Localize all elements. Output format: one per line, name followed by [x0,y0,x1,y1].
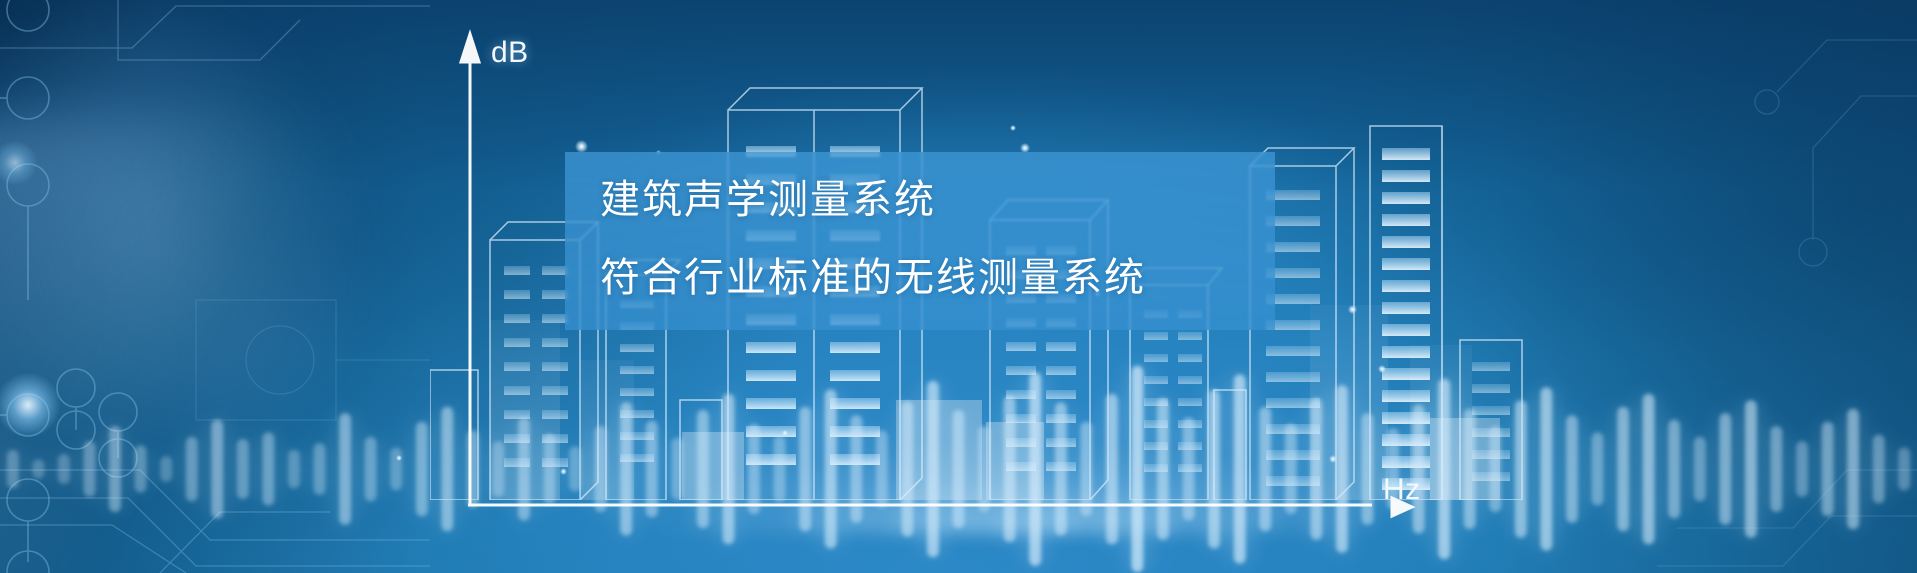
page-subtitle: 符合行业标准的无线测量系统 [600,258,1300,298]
headline-group: 建筑声学测量系统 符合行业标准的无线测量系统 [600,180,1300,298]
page-title: 建筑声学测量系统 [600,180,1300,220]
x-axis-label: Hz [1383,473,1421,507]
acoustic-measurement-banner: dB Hz 建筑声学测量系统 符合行业标准的无线测量系统 [0,0,1917,573]
up-arrow-icon [461,34,479,62]
y-axis-label: dB [491,36,529,70]
